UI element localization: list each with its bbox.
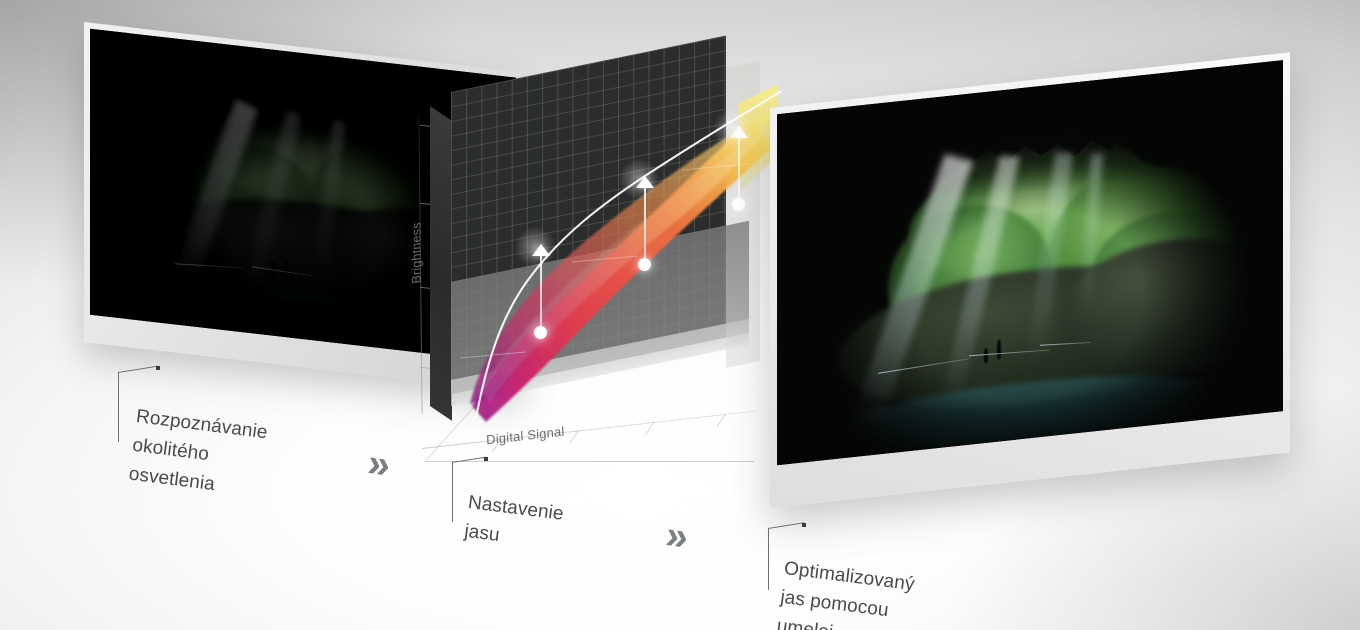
callout-endpoint-dot bbox=[802, 523, 806, 527]
tv-screen-after bbox=[770, 52, 1290, 508]
flow-arrow-1-glyph: » bbox=[365, 443, 393, 486]
callout-endpoint-dot bbox=[156, 366, 160, 370]
flow-arrow-2-glyph: » bbox=[663, 515, 691, 558]
callout-endpoint-dot bbox=[484, 457, 488, 461]
flow-arrow-2-icon: » bbox=[663, 515, 691, 558]
x-axis-tick bbox=[569, 430, 579, 443]
flow-arrow-1-icon: » bbox=[365, 443, 393, 486]
cave-image-bright bbox=[777, 60, 1283, 465]
infographic-stage: Brightness Digital Signal bbox=[0, 0, 1360, 630]
y-axis-label: Brightness bbox=[410, 222, 424, 283]
x-axis-label: Digital Signal bbox=[486, 424, 565, 448]
brightness-curve-chart: Brightness Digital Signal bbox=[430, 92, 770, 462]
tv-bezel bbox=[770, 52, 1290, 508]
y-axis-label-text: Brightness bbox=[410, 222, 424, 285]
brightness-band bbox=[442, 66, 772, 406]
tv-display-after bbox=[777, 60, 1283, 465]
callout-label: Nastavenie jasu bbox=[463, 488, 566, 558]
callout-label: Optimalizovaný jas pomocou umelej inteli… bbox=[768, 554, 916, 630]
callout-label: Rozpoznávanie okolitého osvetlenia bbox=[127, 402, 269, 505]
brightness-band-svg bbox=[442, 66, 802, 426]
